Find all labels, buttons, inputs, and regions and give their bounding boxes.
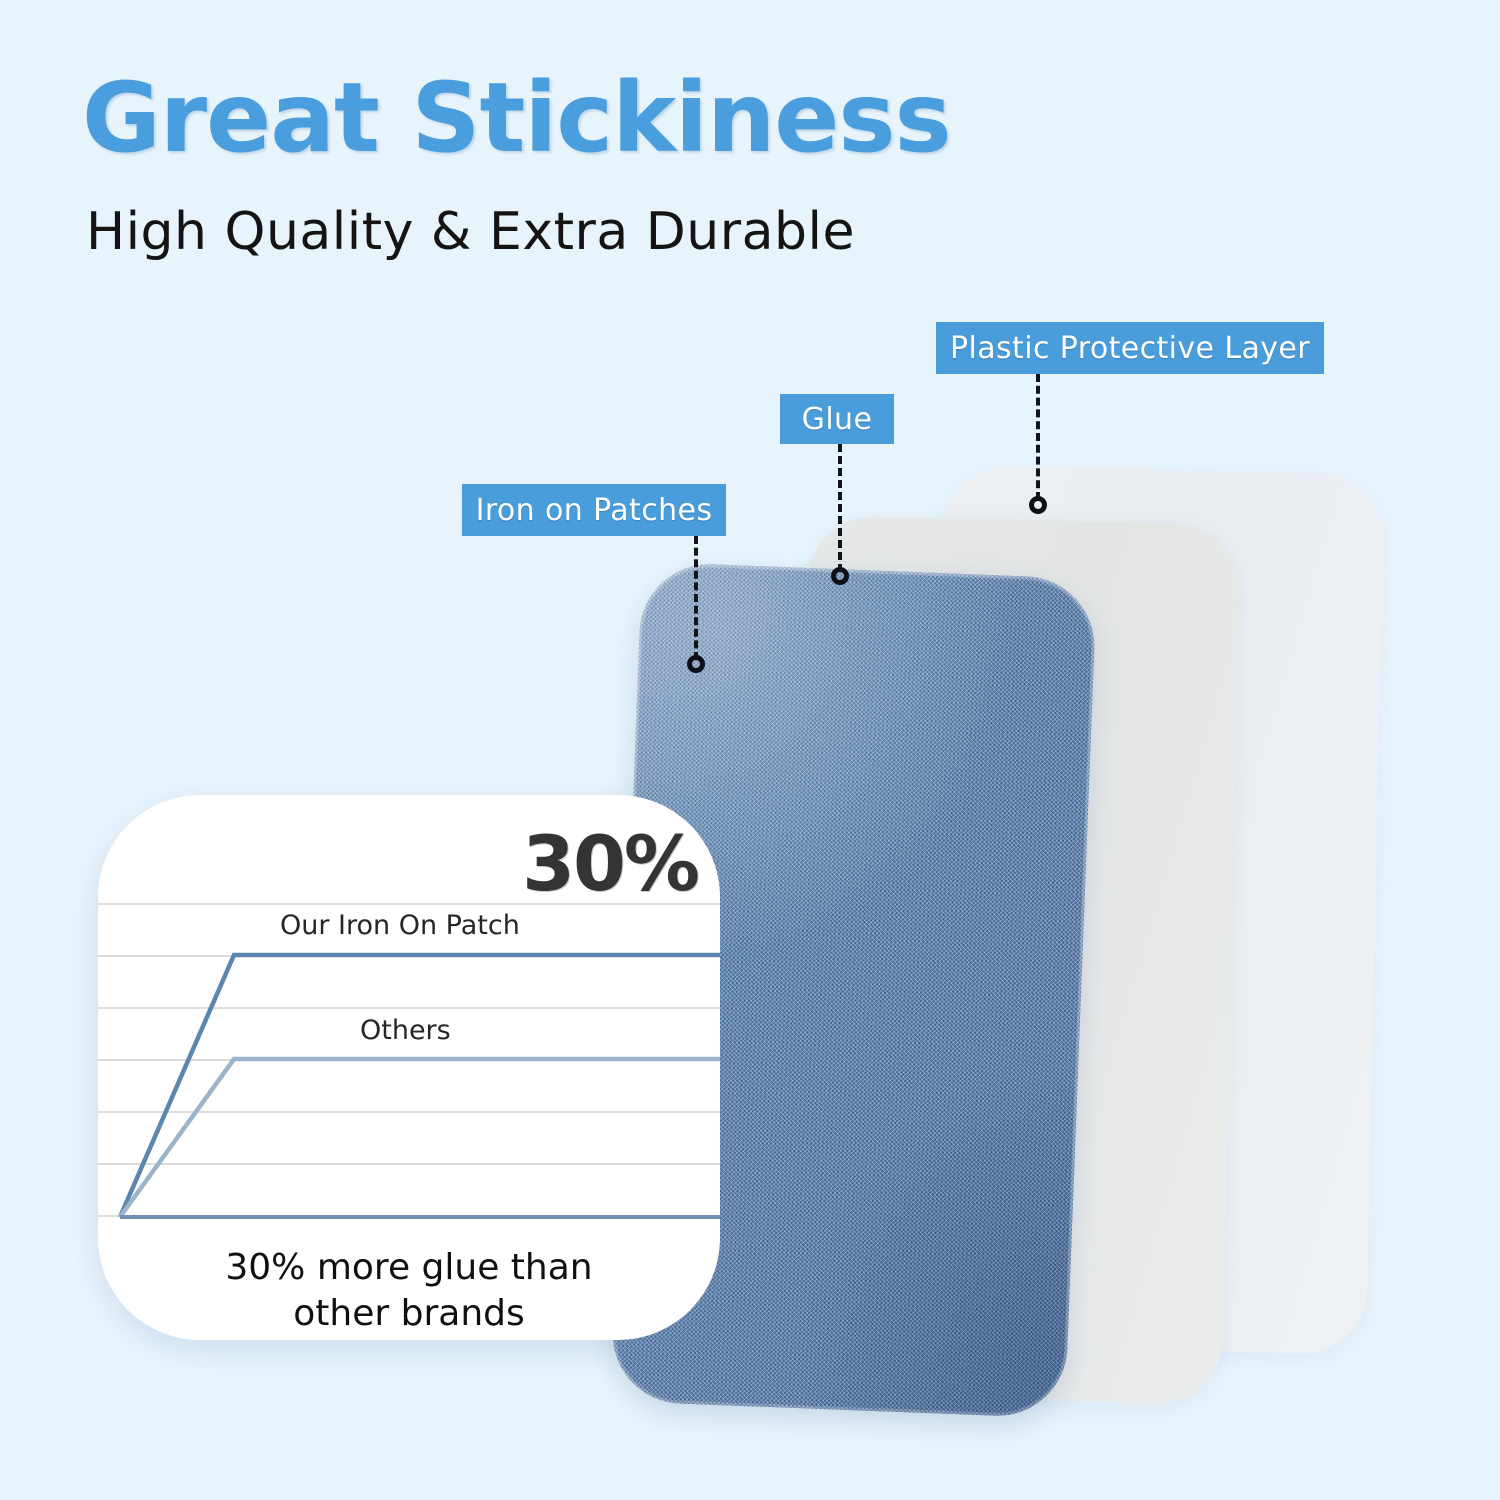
connector-line-plastic-protective-layer — [1036, 374, 1040, 500]
connector-dot-iron-on-patches — [687, 655, 705, 673]
series-label-others: Others — [360, 1015, 451, 1046]
chart-gridline — [98, 903, 720, 905]
percent-badge: 30% — [522, 819, 698, 908]
infographic-canvas: Great Stickiness High Quality & Extra Du… — [0, 0, 1500, 1500]
page-subtitle: High Quality & Extra Durable — [86, 202, 855, 262]
chart-caption-line-2: other brands — [98, 1291, 720, 1337]
callout-glue: Glue — [780, 394, 894, 444]
callout-plastic-protective-layer: Plastic Protective Layer — [936, 322, 1324, 374]
connector-dot-plastic-protective-layer — [1029, 496, 1047, 514]
connector-line-iron-on-patches — [694, 536, 698, 660]
series-label-our-iron-on-patch: Our Iron On Patch — [280, 910, 520, 941]
series-baseline — [98, 1209, 720, 1227]
callout-iron-on-patches: Iron on Patches — [462, 484, 726, 536]
series-ramp-others — [98, 1049, 720, 1229]
chart-caption-line-1: 30% more glue than — [98, 1245, 720, 1291]
connector-dot-glue — [831, 567, 849, 585]
page-title: Great Stickiness — [82, 62, 951, 174]
connector-line-glue — [838, 444, 842, 572]
comparison-chart-card: 30% Our Iron On Patch Others 30% more gl… — [98, 795, 720, 1340]
